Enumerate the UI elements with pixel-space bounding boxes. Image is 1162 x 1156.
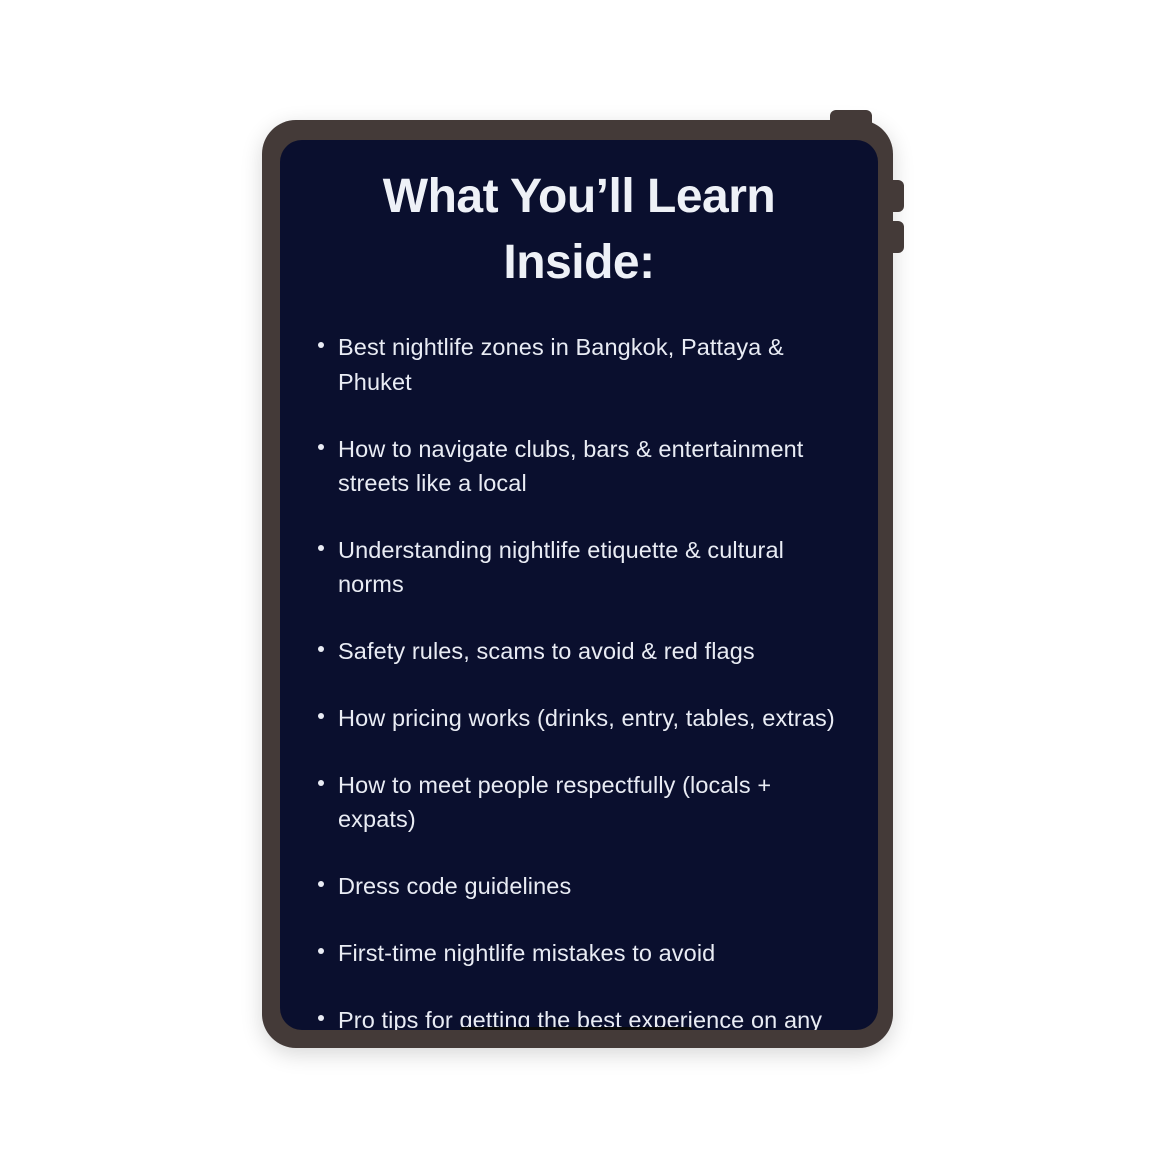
screen-content: What You’ll Learn Inside: Best nightlife…	[280, 140, 878, 1030]
tablet-screen: What You’ll Learn Inside: Best nightlife…	[280, 140, 878, 1030]
list-item-label: Safety rules, scams to avoid & red flags	[338, 638, 755, 664]
list-item: Dress code guidelines	[318, 869, 848, 903]
home-indicator	[460, 1027, 692, 1030]
list-item: First-time nightlife mistakes to avoid	[318, 936, 848, 970]
list-item: Understanding nightlife etiquette & cult…	[318, 533, 848, 601]
list-item-label: How to navigate clubs, bars & entertainm…	[338, 436, 803, 496]
learn-list: Best nightlife zones in Bangkok, Pattaya…	[280, 296, 878, 1030]
bullet-icon	[318, 1015, 324, 1021]
list-item-label: How to meet people respectfully (locals …	[338, 772, 771, 832]
list-item-label: First-time nightlife mistakes to avoid	[338, 940, 715, 966]
list-item: How to navigate clubs, bars & entertainm…	[318, 432, 848, 500]
bullet-icon	[318, 713, 324, 719]
list-item-label: Best nightlife zones in Bangkok, Pattaya…	[338, 334, 784, 394]
list-item: How to meet people respectfully (locals …	[318, 768, 848, 836]
list-item-label: Understanding nightlife etiquette & cult…	[338, 537, 784, 597]
bullet-icon	[318, 646, 324, 652]
list-item: How pricing works (drinks, entry, tables…	[318, 701, 848, 735]
power-button[interactable]	[830, 110, 872, 126]
volume-down-button[interactable]	[891, 221, 904, 253]
bullet-icon	[318, 444, 324, 450]
bullet-icon	[318, 342, 324, 348]
bullet-icon	[318, 881, 324, 887]
bullet-icon	[318, 780, 324, 786]
volume-up-button[interactable]	[891, 180, 904, 212]
bullet-icon	[318, 545, 324, 551]
list-item: Best nightlife zones in Bangkok, Pattaya…	[318, 330, 848, 398]
list-item: Pro tips for getting the best experience…	[318, 1003, 848, 1030]
bullet-icon	[318, 948, 324, 954]
page-title: What You’ll Learn Inside:	[280, 140, 878, 296]
list-item: Safety rules, scams to avoid & red flags	[318, 634, 848, 668]
list-item-label: Dress code guidelines	[338, 873, 571, 899]
list-item-label: How pricing works (drinks, entry, tables…	[338, 705, 835, 731]
tablet-device: What You’ll Learn Inside: Best nightlife…	[262, 120, 893, 1048]
